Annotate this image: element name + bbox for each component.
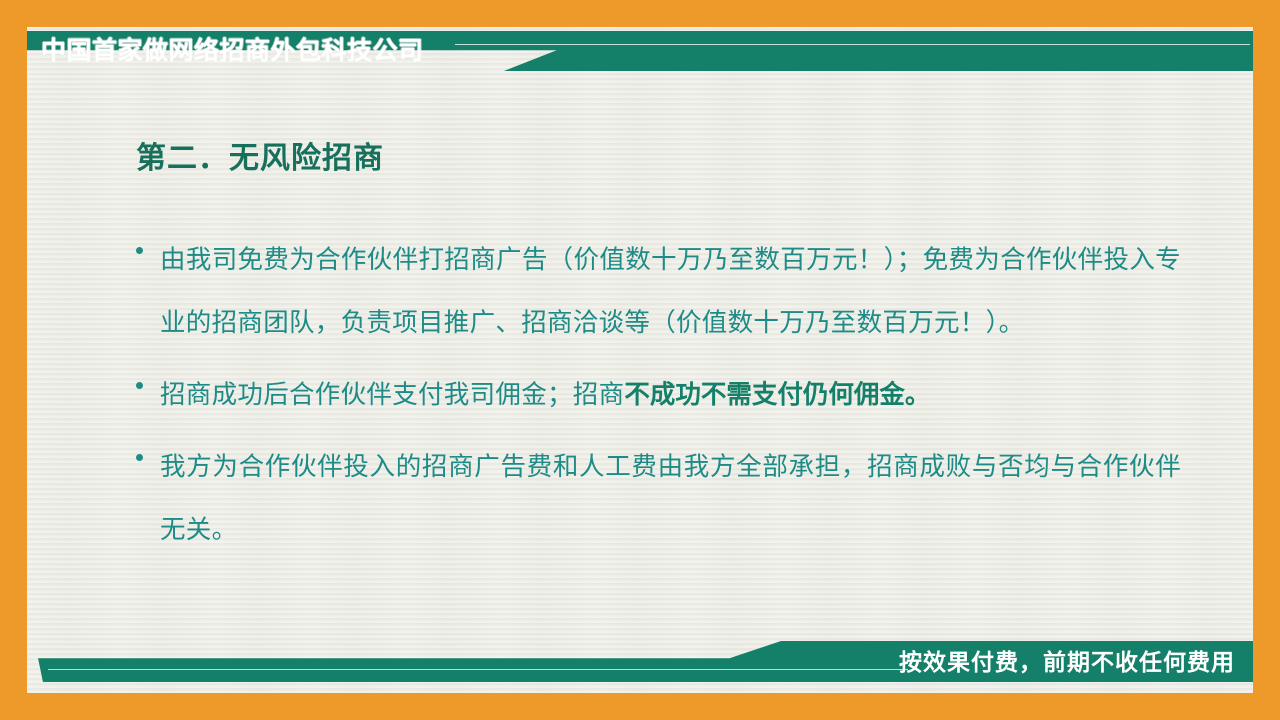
page-title: 第二．无风险招商 (136, 139, 384, 179)
bullet-dot-icon (136, 228, 160, 254)
bullet-dot-icon (136, 363, 160, 389)
list-item-text-emphasis: 不成功不需支付仍何佣金。 (624, 381, 930, 409)
list-item: 由我司免费为合作伙伴打招商广告（价值数十万乃至数百万元！）；免费为合作伙伴投入专… (136, 228, 1181, 355)
list-item-text-plain: 招商成功后合作伙伴支付我司佣金；招商 (160, 380, 624, 409)
list-item: 招商成功后合作伙伴支付我司佣金；招商不成功不需支付仍何佣金。 (136, 363, 1181, 427)
bullet-dot-icon (136, 435, 160, 461)
presentation-slide: 中国首家做网络招商外包科技公司 第二．无风险招商 由我司免费为合作伙伴打招商广告… (0, 0, 1280, 720)
list-item-text-plain: 由我司免费为合作伙伴打招商广告（价值数十万乃至数百万元！）；免费为合作伙伴投入专… (160, 245, 1181, 337)
list-item-text-plain: 我方为合作伙伴投入的招商广告费和人工费由我方全部承担，招商成败与否均与合作伙伴无… (160, 452, 1181, 544)
footer-tagline: 按效果付费，前期不收任何费用 (899, 645, 1235, 679)
list-item-text: 由我司免费为合作伙伴打招商广告（价值数十万乃至数百万元！）；免费为合作伙伴投入专… (160, 228, 1181, 355)
list-item-text: 我方为合作伙伴投入的招商广告费和人工费由我方全部承担，招商成败与否均与合作伙伴无… (160, 435, 1181, 562)
header-hairline-divider (455, 44, 1250, 45)
header-title: 中国首家做网络招商外包科技公司 (41, 33, 424, 69)
list-item: 我方为合作伙伴投入的招商广告费和人工费由我方全部承担，招商成败与否均与合作伙伴无… (136, 435, 1181, 562)
bullet-list: 由我司免费为合作伙伴打招商广告（价值数十万乃至数百万元！）；免费为合作伙伴投入专… (136, 228, 1181, 570)
footer-hairline-divider (48, 669, 908, 670)
list-item-text: 招商成功后合作伙伴支付我司佣金；招商不成功不需支付仍何佣金。 (160, 363, 1181, 427)
